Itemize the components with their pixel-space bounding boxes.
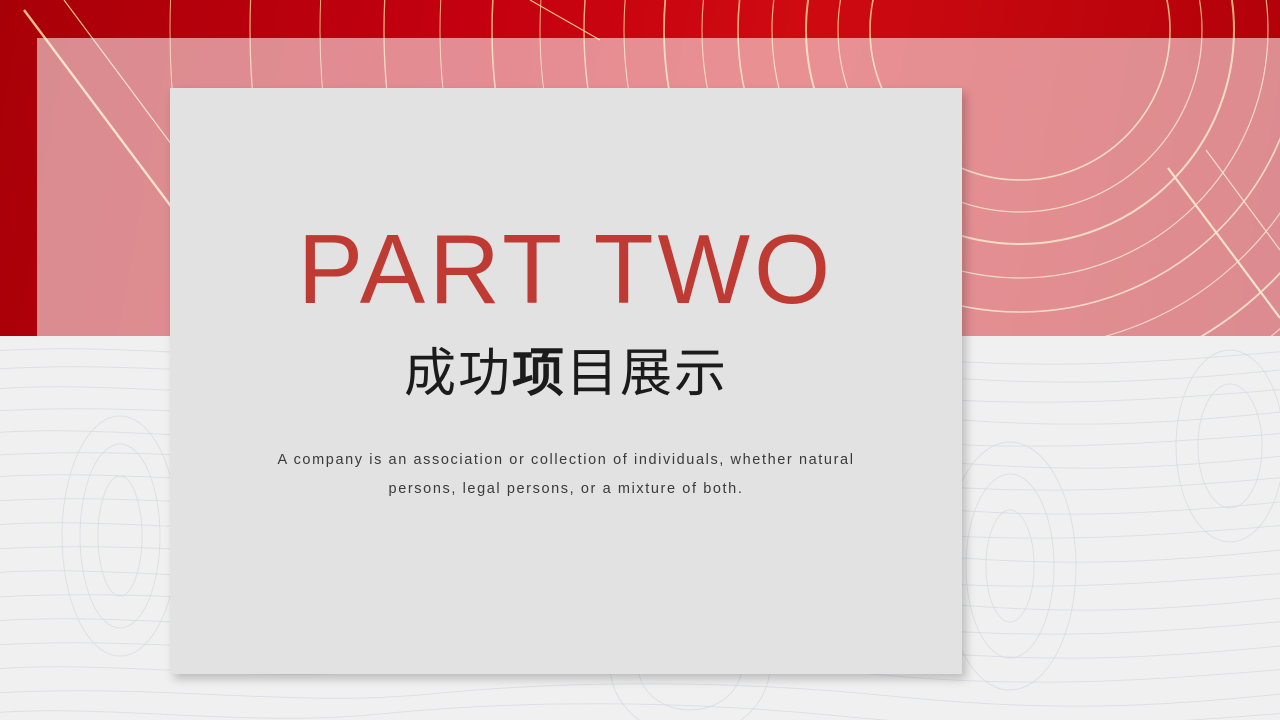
content-card: PART TWO 成功项目展示 A company is an associat… — [170, 88, 962, 674]
section-title: PART TWO — [170, 220, 962, 318]
section-description: A company is an association or collectio… — [226, 446, 906, 504]
subtitle-suffix: 目展示 — [566, 344, 728, 404]
description-line-1: A company is an association or collectio… — [226, 446, 906, 475]
presentation-slide: PART TWO 成功项目展示 A company is an associat… — [0, 0, 1280, 720]
section-subtitle: 成功项目展示 — [170, 345, 962, 405]
description-line-2: persons, legal persons, or a mixture of … — [226, 475, 906, 504]
subtitle-prefix: 成功 — [404, 344, 512, 404]
subtitle-emphasis: 项 — [512, 344, 566, 404]
